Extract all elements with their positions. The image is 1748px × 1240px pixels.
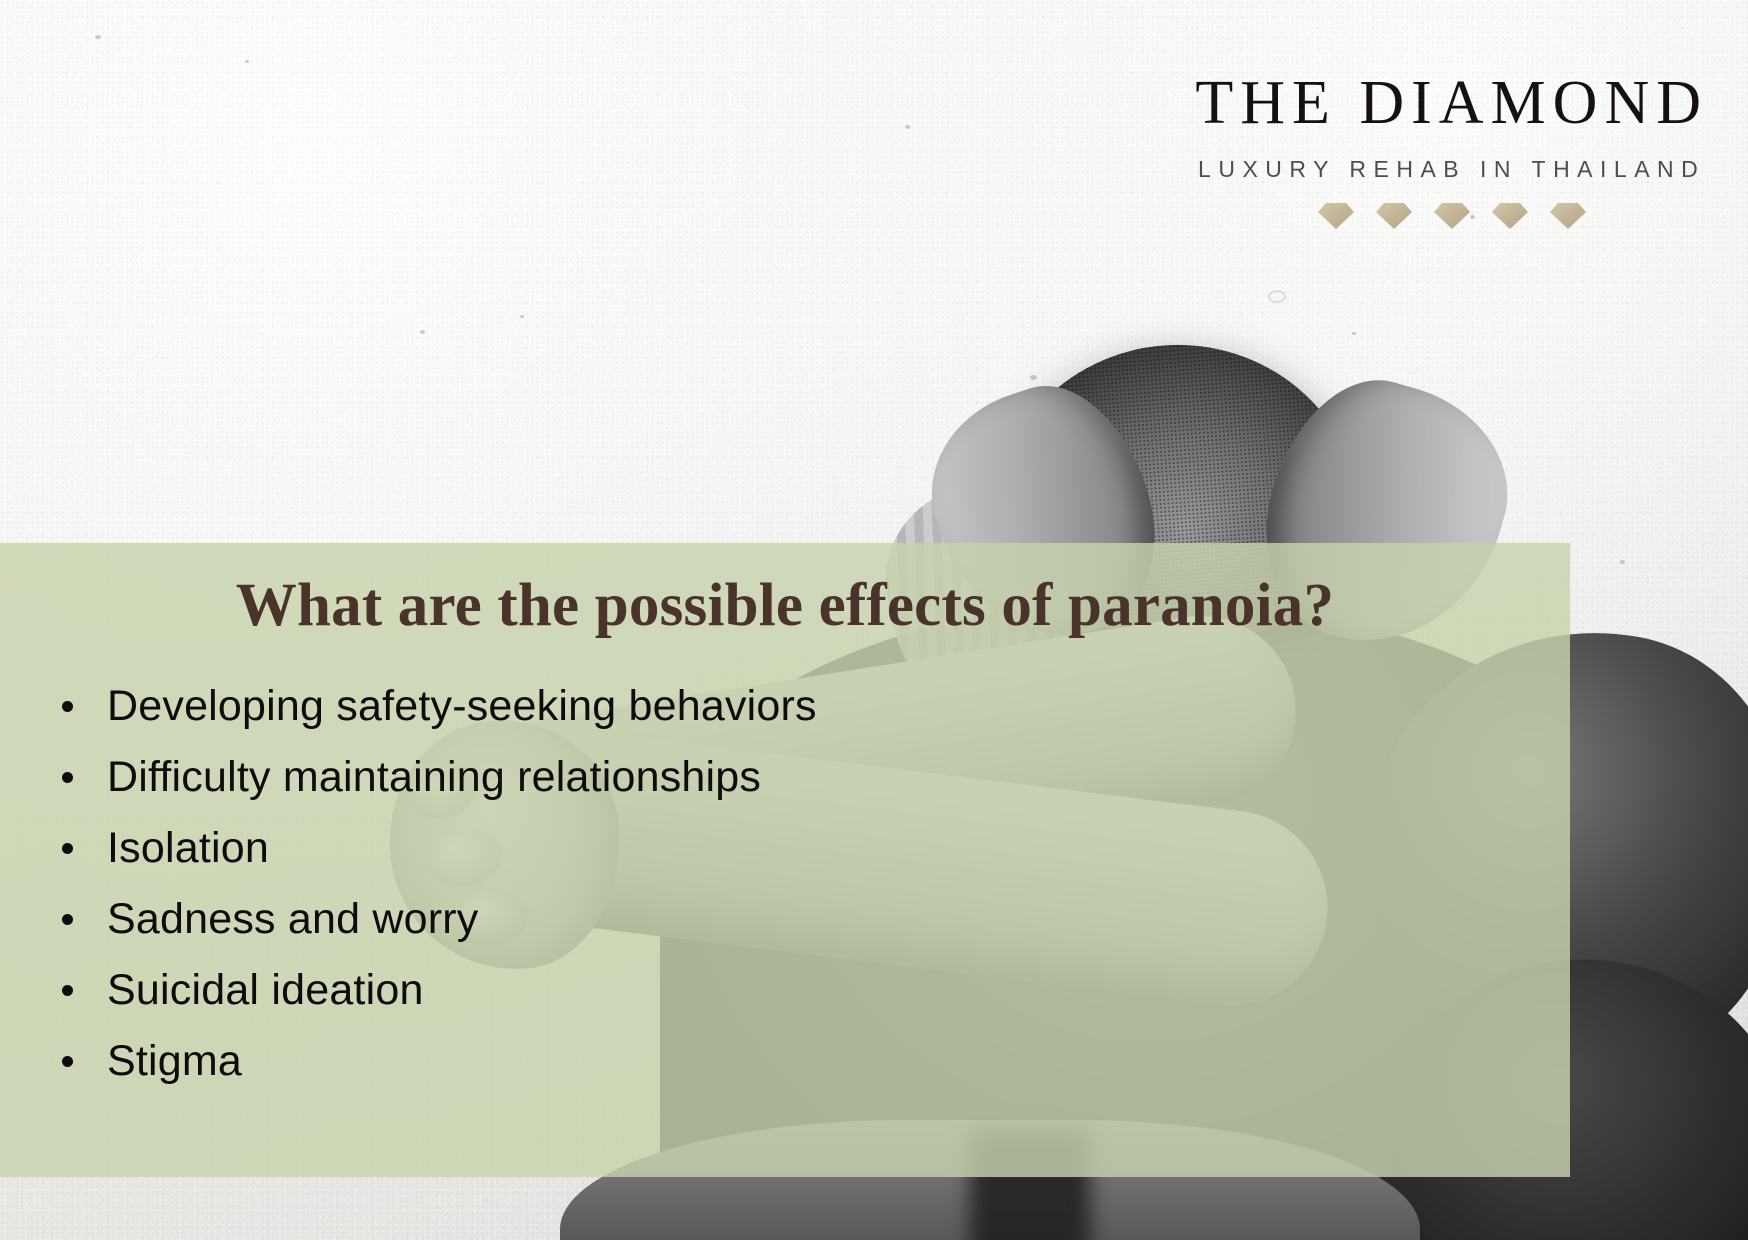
diamond-icon	[1492, 203, 1528, 229]
diamond-icon	[1550, 203, 1586, 229]
bullet-dot-icon	[62, 985, 73, 996]
list-item: Suicidal ideation	[62, 955, 1570, 1026]
diamond-icon	[1434, 203, 1470, 229]
effects-list: Developing safety-seeking behaviors Diff…	[0, 671, 1570, 1097]
content-panel: What are the possible effects of paranoi…	[0, 543, 1570, 1177]
bullet-dot-icon	[62, 914, 73, 925]
bullet-dot-icon	[62, 843, 73, 854]
bullet-dot-icon	[62, 772, 73, 783]
logo-title: THE DIAMOND	[1195, 72, 1708, 134]
list-item: Sadness and worry	[62, 884, 1570, 955]
list-item: Developing safety-seeking behaviors	[62, 671, 1570, 742]
list-item-label: Stigma	[107, 1037, 242, 1086]
poster-canvas: THE DIAMOND LUXURY REHAB IN THAILAND	[0, 0, 1748, 1240]
brand-logo[interactable]: THE DIAMOND LUXURY REHAB IN THAILAND	[1195, 72, 1708, 229]
diamond-icon	[1318, 203, 1354, 229]
list-item-label: Developing safety-seeking behaviors	[107, 682, 817, 731]
list-item: Isolation	[62, 813, 1570, 884]
list-item-label: Difficulty maintaining relationships	[107, 753, 761, 802]
list-item: Stigma	[62, 1026, 1570, 1097]
bullet-dot-icon	[62, 701, 73, 712]
logo-tagline: LUXURY REHAB IN THAILAND	[1195, 156, 1708, 183]
list-item: Difficulty maintaining relationships	[62, 742, 1570, 813]
diamond-icon	[1376, 203, 1412, 229]
list-item-label: Sadness and worry	[107, 895, 478, 944]
panel-title: What are the possible effects of paranoi…	[0, 543, 1570, 641]
bullet-dot-icon	[62, 1056, 73, 1067]
list-item-label: Isolation	[107, 824, 269, 873]
diamond-ornament-row	[1195, 203, 1708, 229]
list-item-label: Suicidal ideation	[107, 966, 424, 1015]
